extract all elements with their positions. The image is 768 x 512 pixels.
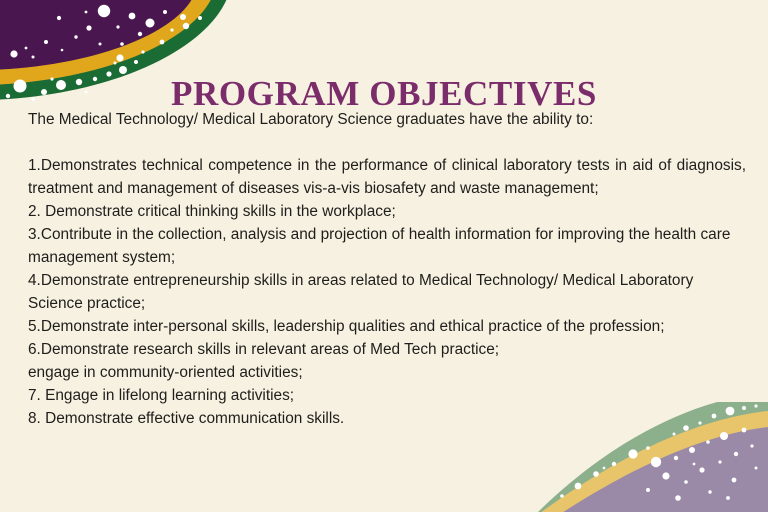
confetti-dots-mauve <box>646 428 758 501</box>
objective-item-7: 7. Engage in lifelong learning activitie… <box>28 384 746 407</box>
confetti-dots-pale-gold <box>560 446 650 498</box>
objective-item-4: 4.Demonstrate entrepreneurship skills in… <box>28 269 746 315</box>
objective-item-5: 5.Demonstrate inter-personal skills, lea… <box>28 315 746 338</box>
swoosh-band-mauve <box>548 426 768 512</box>
objective-item-2: 2. Demonstrate critical thinking skills … <box>28 200 746 223</box>
objectives-list: 1.Demonstrates technical competence in t… <box>28 154 746 430</box>
objective-item-6: 6.Demonstrate research skills in relevan… <box>28 338 746 361</box>
slide-body: The Medical Technology/ Medical Laborato… <box>28 108 746 430</box>
swoosh-band-gold <box>0 0 215 85</box>
slide-canvas: PROGRAM OBJECTIVES The Medical Technolog… <box>0 0 768 512</box>
confetti-dots-gold <box>116 16 202 62</box>
intro-paragraph: The Medical Technology/ Medical Laborato… <box>28 108 746 154</box>
swoosh-band-purple <box>0 0 196 70</box>
objective-item-1: 1.Demonstrates technical competence in t… <box>28 154 746 200</box>
objective-item-3: 3.Contribute in the collection, analysis… <box>28 223 746 269</box>
objective-item-6b: engage in community-oriented activities; <box>28 361 746 384</box>
objective-item-8: 8. Demonstrate effective communication s… <box>28 407 746 430</box>
confetti-dots-purple <box>10 5 186 59</box>
